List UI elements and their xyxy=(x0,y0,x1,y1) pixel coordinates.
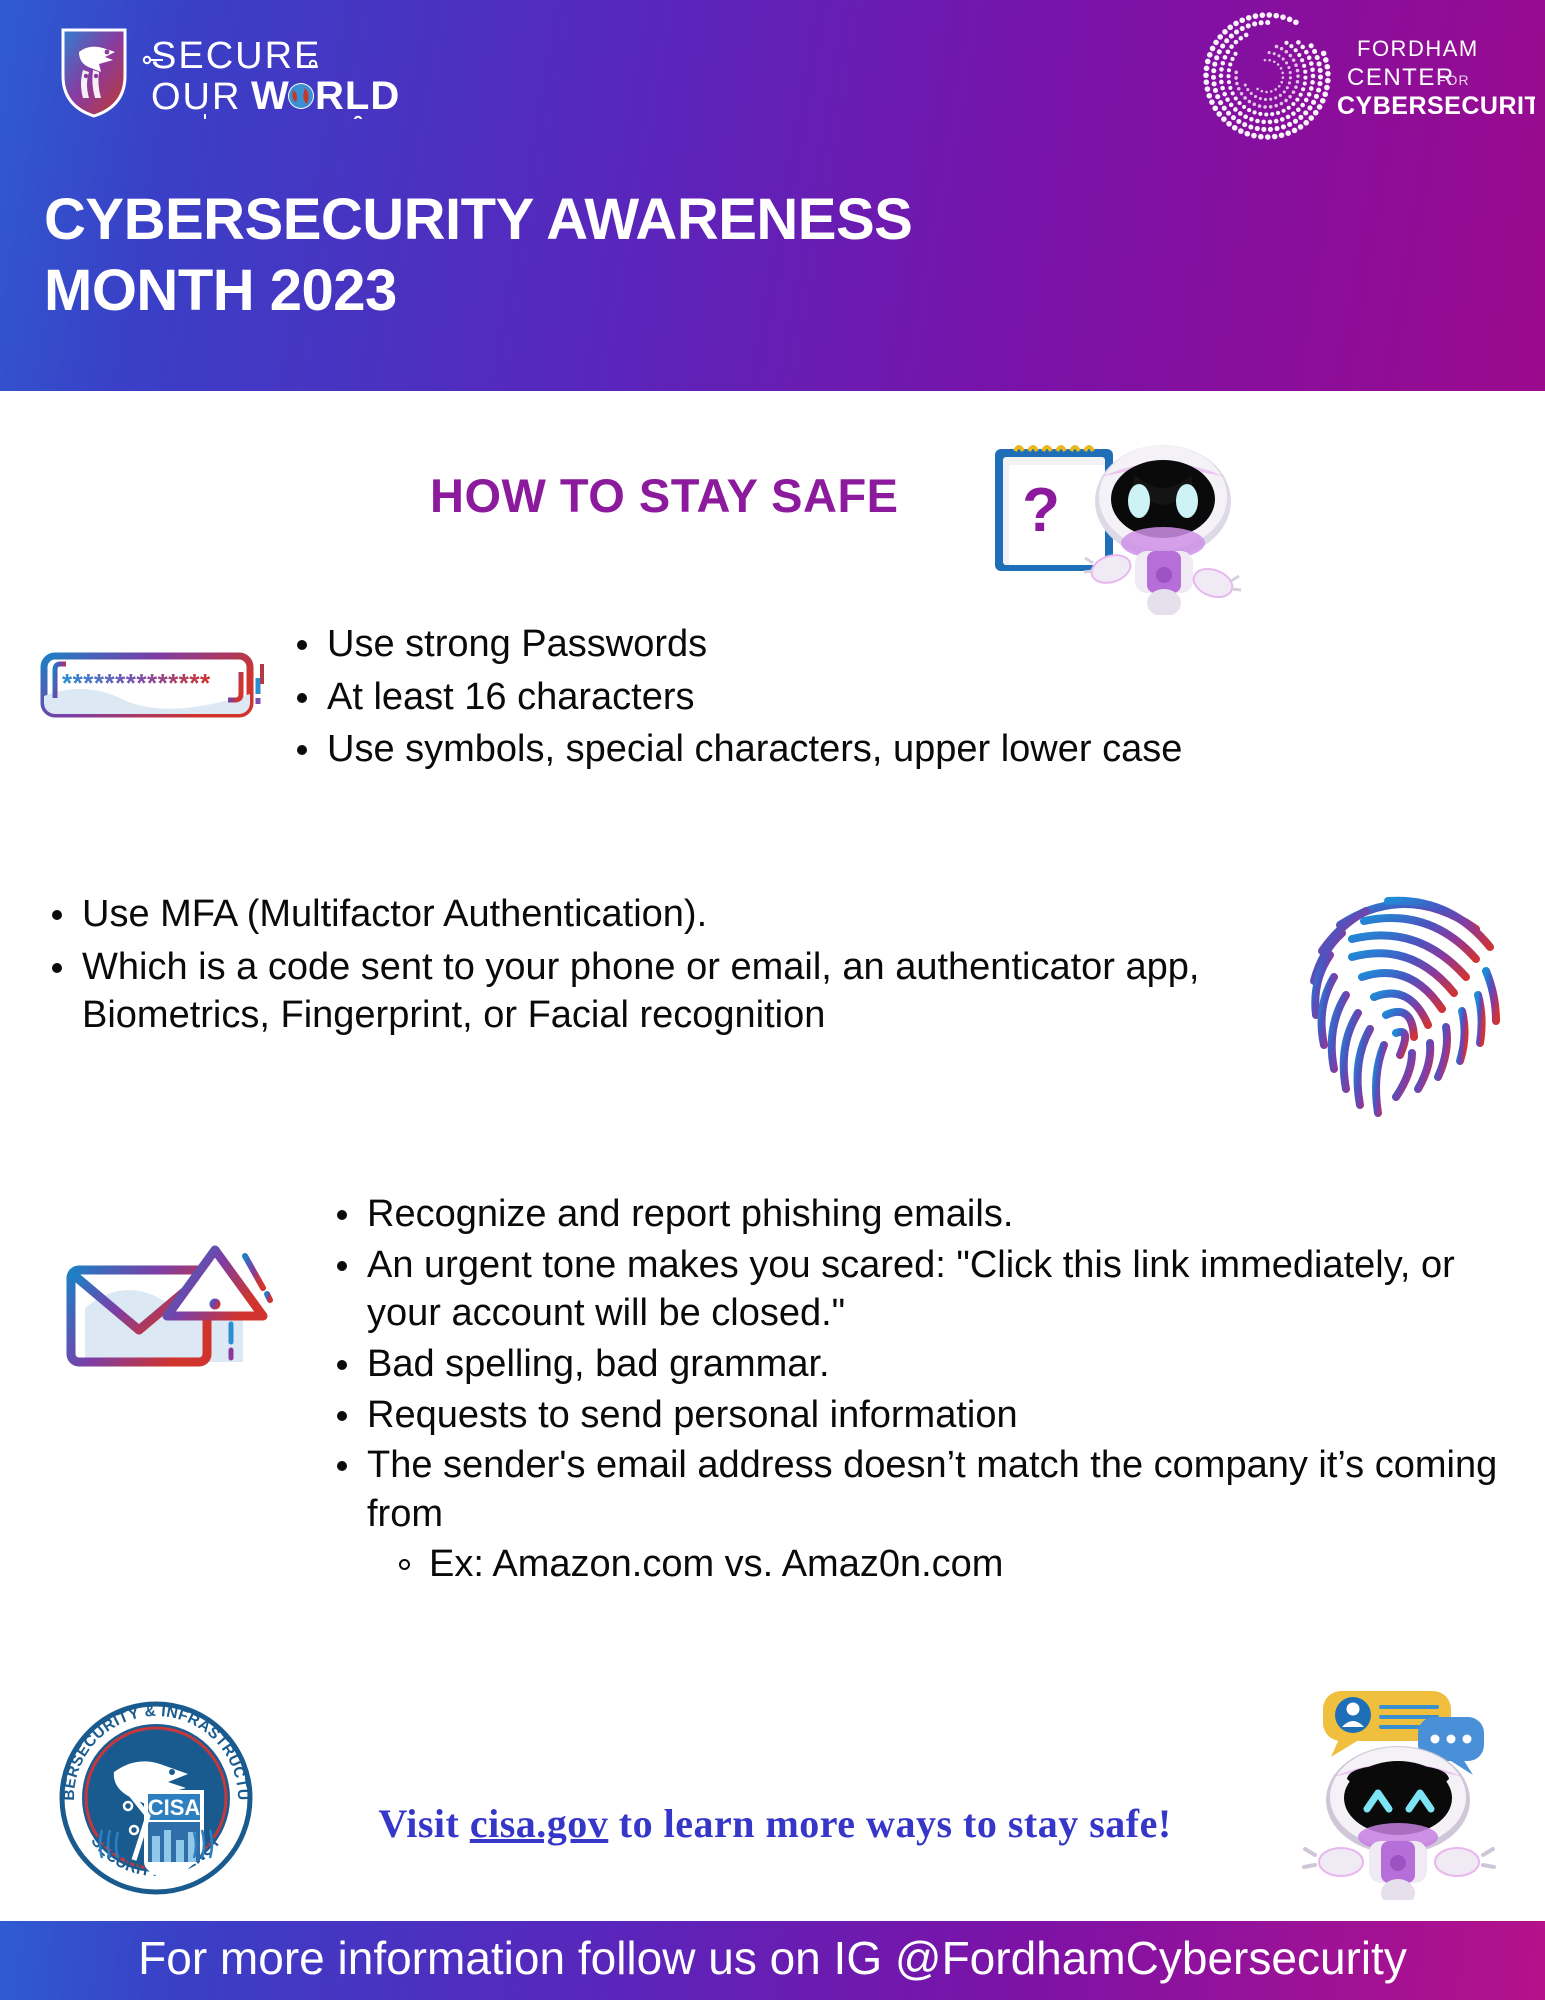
cisa-seal-icon: CYBERSECURITY & INFRASTRUCTURE SECURITY … xyxy=(48,1690,263,1905)
visit-suffix: to learn more ways to stay safe! xyxy=(608,1801,1171,1846)
phishing-bullet-list: Recognize and report phishing emails. An… xyxy=(325,1190,1525,1590)
cisa-badge-text: CISA xyxy=(148,1795,201,1820)
svg-text:RLD: RLD xyxy=(315,74,400,118)
poster-header: SECURE OUR W RLD FORDHAM CENTER FOR xyxy=(0,0,1545,391)
list-item: The sender's email address doesn’t match… xyxy=(325,1441,1525,1538)
stay-safe-section: HOW TO STAY SAFE ? xyxy=(0,455,1545,605)
fordham-logo-for: FOR xyxy=(1437,72,1470,88)
fordham-logo-line1: FORDHAM xyxy=(1357,36,1479,61)
fordham-center-cybersecurity-logo: FORDHAM CENTER FOR CYBERSECURITY xyxy=(1175,12,1535,140)
shield-eagle-icon xyxy=(63,30,125,116)
stay-safe-heading: HOW TO STAY SAFE xyxy=(430,468,899,523)
mfa-bullet-list: Use MFA (Multifactor Authentication). Wh… xyxy=(40,890,1280,1044)
list-item: Use strong Passwords xyxy=(285,620,1525,669)
page-title: CYBERSECURITY AWARENESS MONTH 2023 xyxy=(44,185,912,327)
visit-prefix: Visit xyxy=(378,1801,470,1846)
footer-bar: For more information follow us on IG @Fo… xyxy=(0,1921,1545,2000)
svg-text:OUR: OUR xyxy=(151,76,241,118)
fordham-logo-line3: CYBERSECURITY xyxy=(1337,92,1535,120)
page-title-line1: CYBERSECURITY AWARENESS xyxy=(44,187,912,252)
password-masked-value: ************** xyxy=(62,668,211,698)
secure-our-world-logo: SECURE OUR W RLD xyxy=(55,24,475,119)
page-title-line2: MONTH 2023 xyxy=(44,256,912,327)
list-item: At least 16 characters xyxy=(285,673,1525,722)
globe-icon xyxy=(288,83,314,109)
list-item: Use MFA (Multifactor Authentication). xyxy=(40,890,1280,939)
list-item: Recognize and report phishing emails. xyxy=(325,1190,1525,1239)
robot-with-chat-bubbles-icon xyxy=(1285,1685,1530,1900)
fingerprint-icon xyxy=(1300,885,1515,1120)
list-item: Bad spelling, bad grammar. xyxy=(325,1340,1525,1389)
phishing-sub-bullet-list: Ex: Amazon.com vs. Amaz0n.com xyxy=(387,1540,1525,1589)
email-warning-icon xyxy=(55,1230,275,1370)
password-field-asterisks-icon: ************** xyxy=(36,650,276,725)
list-item: Use symbols, special characters, upper l… xyxy=(285,725,1525,774)
footer-text: For more information follow us on IG @Fo… xyxy=(0,1931,1545,1985)
svg-text:W: W xyxy=(251,74,290,118)
notepad-question-mark: ? xyxy=(1022,476,1060,545)
robot-with-notepad-question-icon: ? xyxy=(985,435,1245,615)
list-item: Requests to send personal information xyxy=(325,1391,1525,1440)
dotted-spiral-icon xyxy=(1203,12,1331,140)
list-item: Which is a code sent to your phone or em… xyxy=(40,943,1280,1040)
list-item: An urgent tone makes you scared: "Click … xyxy=(325,1241,1525,1338)
svg-text:SECURE: SECURE xyxy=(151,35,321,77)
list-item: Ex: Amazon.com vs. Amaz0n.com xyxy=(387,1540,1525,1589)
cisa-gov-link[interactable]: cisa.gov xyxy=(470,1801,608,1846)
passwords-bullet-list: Use strong Passwords At least 16 charact… xyxy=(285,620,1525,778)
visit-cisa-line: Visit cisa.gov to learn more ways to sta… xyxy=(275,1800,1275,1847)
